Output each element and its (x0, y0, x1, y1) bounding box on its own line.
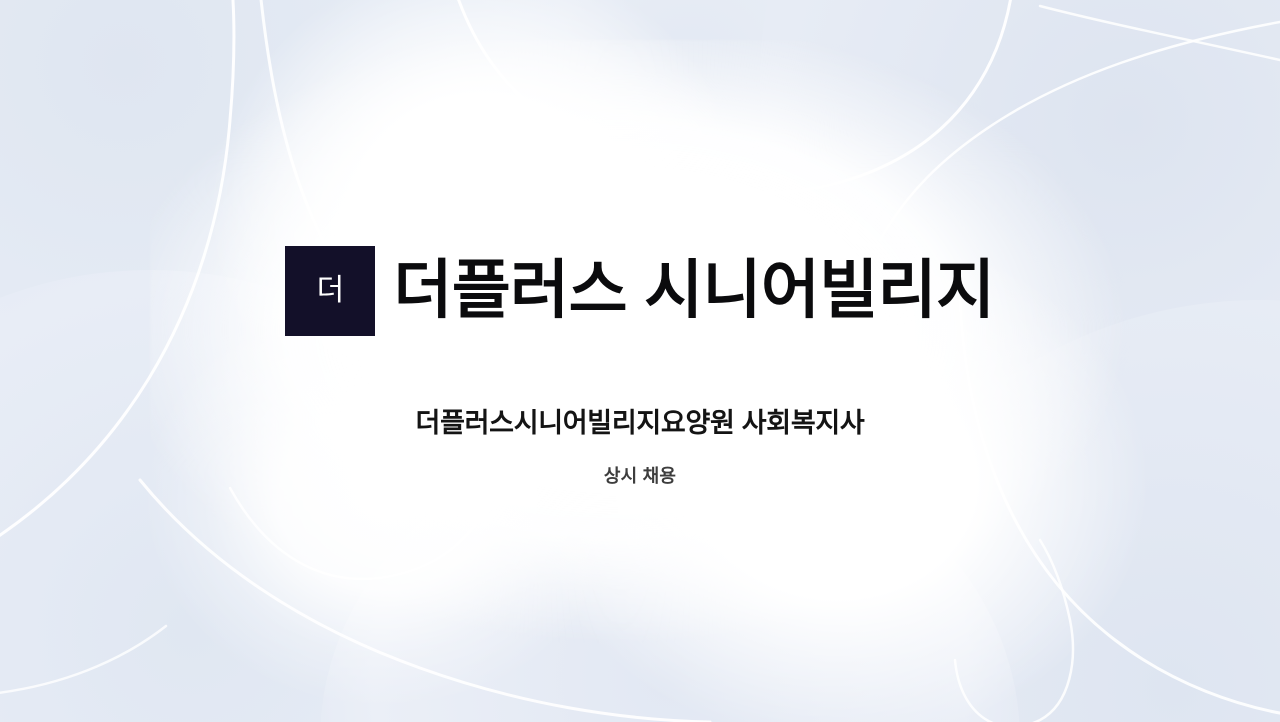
hiring-type-label: 상시 채용 (0, 464, 1280, 489)
poster-content: 더 더플러스 시니어빌리지 더플러스시니어빌리지요양원 사회복지사 상시 채용 (0, 0, 1280, 722)
brand-name: 더플러스 시니어빌리지 (393, 256, 994, 325)
brand-logo-icon: 더 (285, 246, 375, 336)
job-title: 더플러스시니어빌리지요양원 사회복지사 (0, 405, 1280, 441)
brand-row: 더 더플러스 시니어빌리지 (0, 246, 1280, 336)
job-posting-poster: 더 더플러스 시니어빌리지 더플러스시니어빌리지요양원 사회복지사 상시 채용 (0, 0, 1280, 722)
